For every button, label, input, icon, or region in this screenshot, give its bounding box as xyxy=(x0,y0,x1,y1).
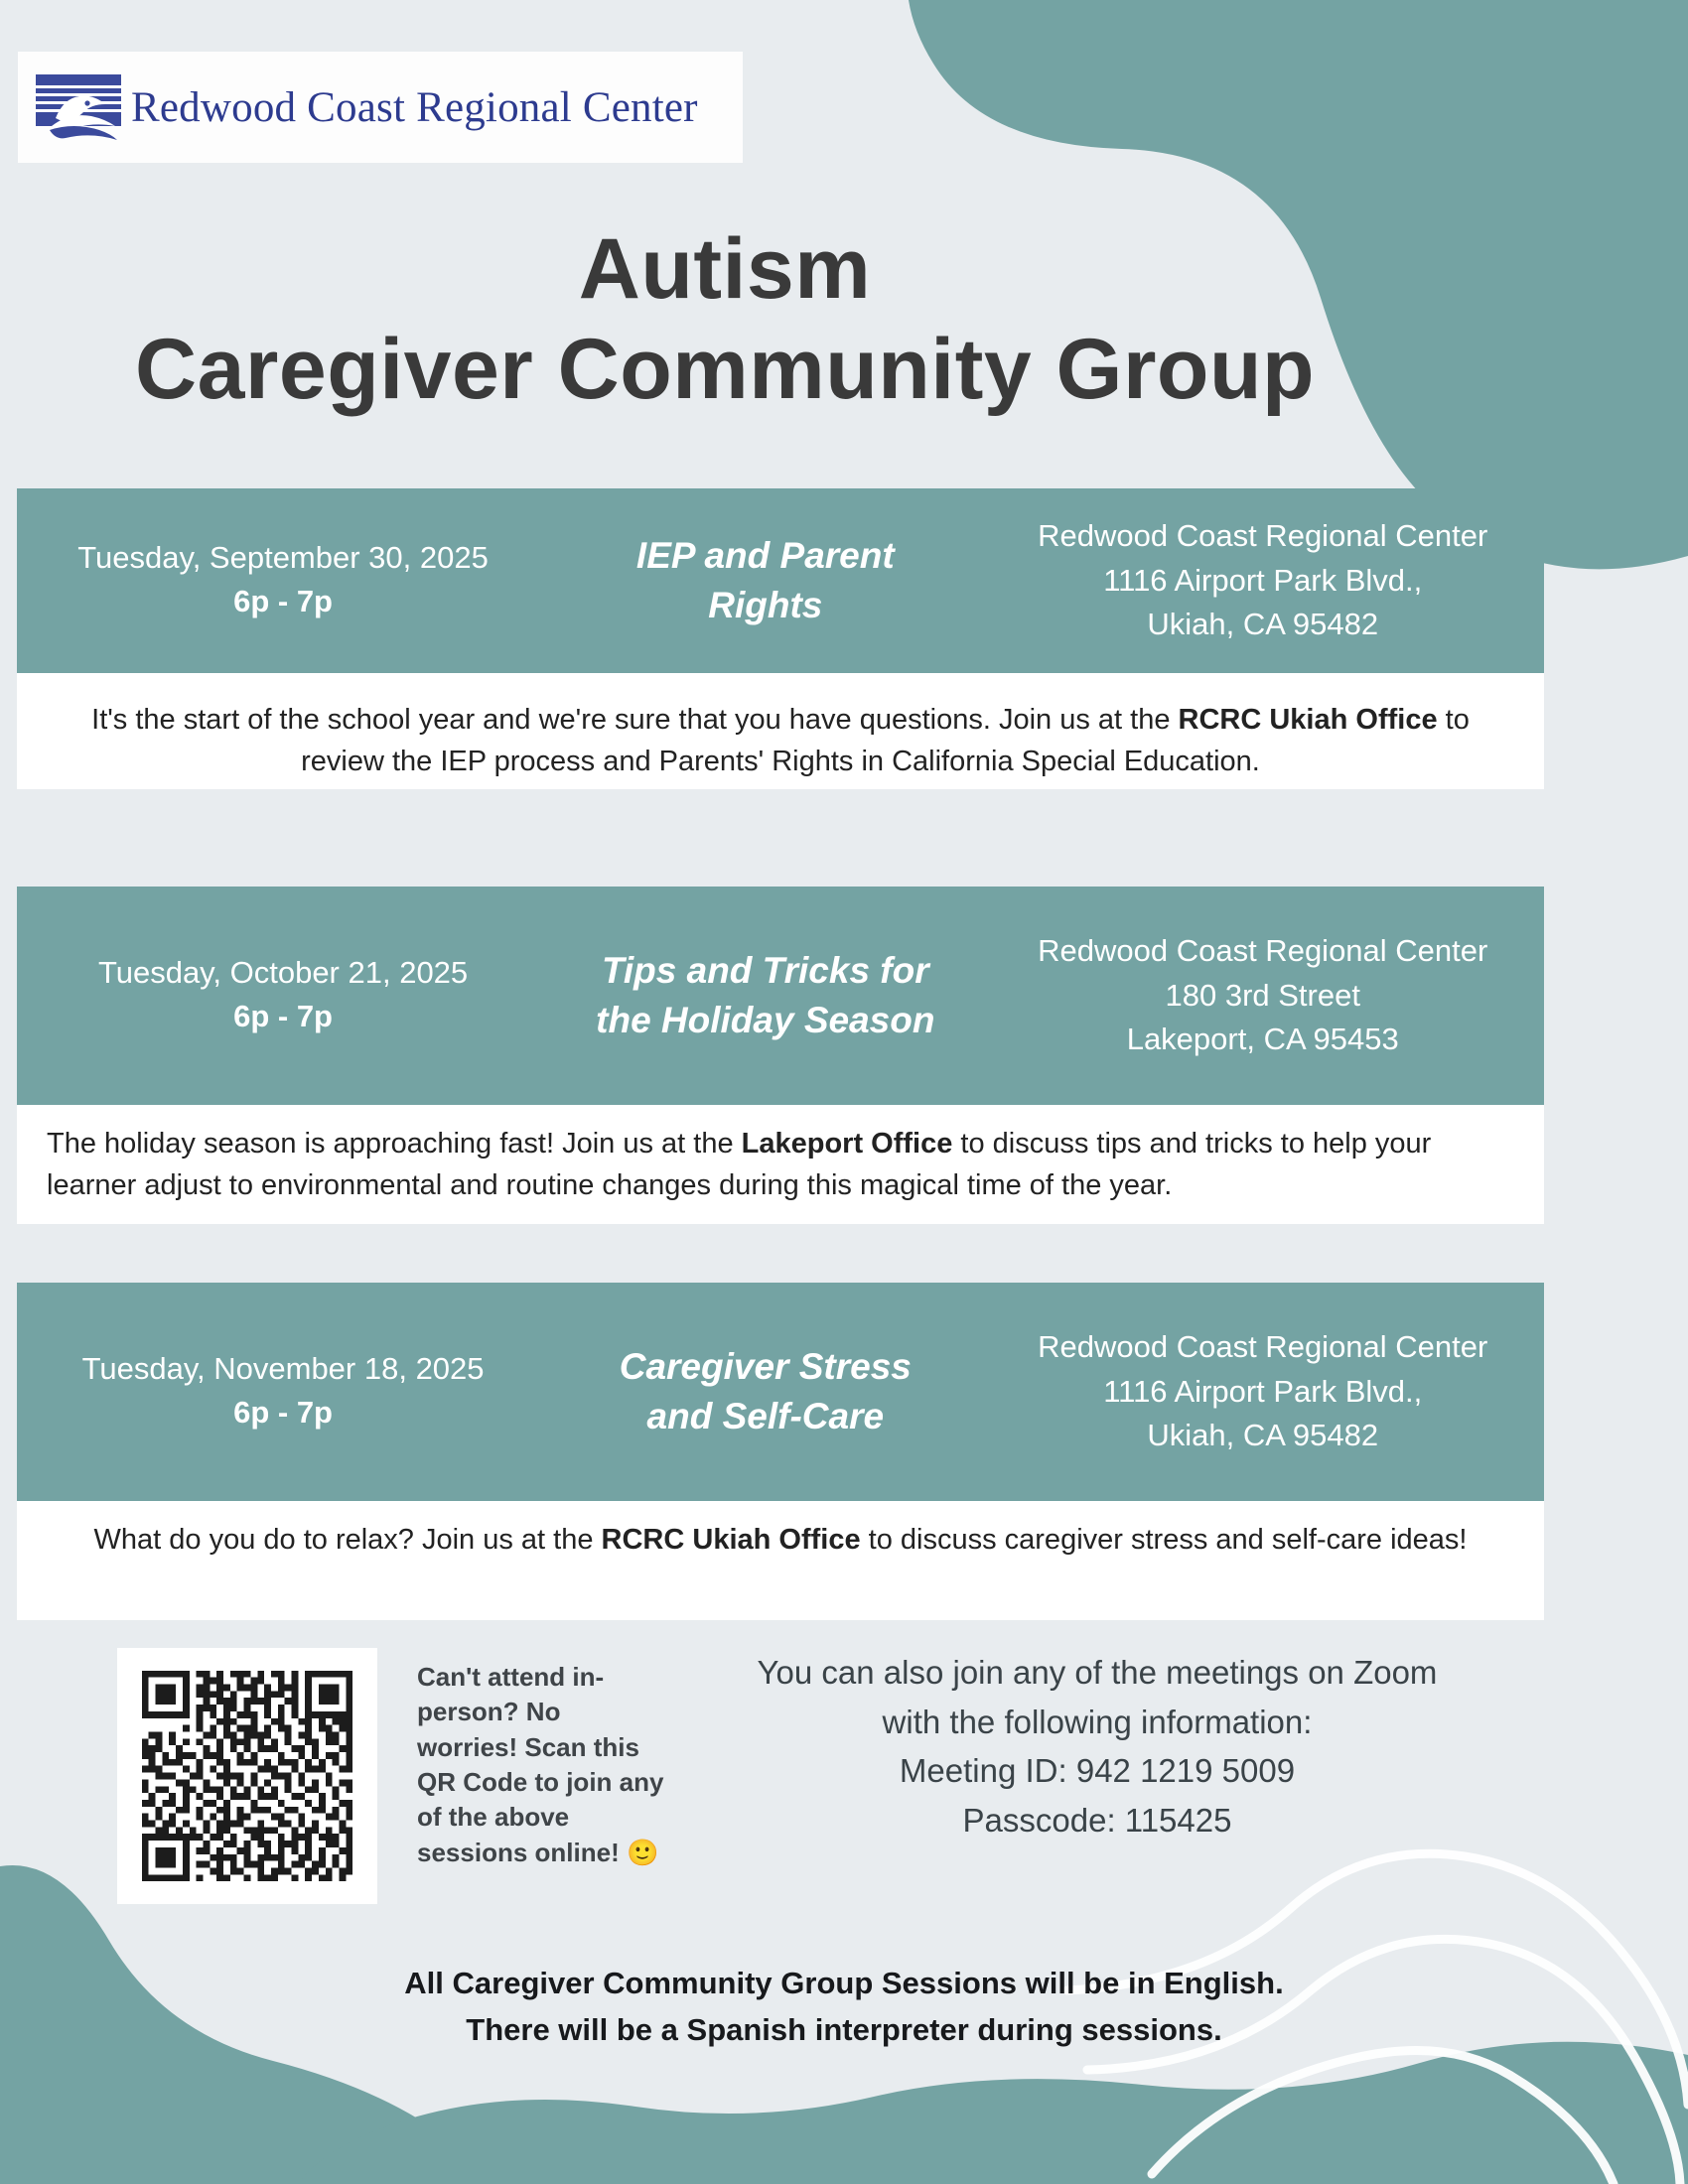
zoom-passcode-value: 115425 xyxy=(1125,1802,1232,1839)
session-location-line-1: Redwood Coast Regional Center xyxy=(992,1325,1534,1370)
session-location-column: Redwood Coast Regional Center 1116 Airpo… xyxy=(992,514,1534,648)
logo-text: Redwood Coast Regional Center xyxy=(131,83,698,132)
session-block-3: Tuesday, November 18, 2025 6p - 7p Careg… xyxy=(17,1283,1544,1620)
description-highlight: Lakeport Office xyxy=(742,1128,953,1160)
session-topic-line-1: Tips and Tricks for xyxy=(539,946,991,996)
session-date-column: Tuesday, November 18, 2025 6p - 7p xyxy=(27,1348,539,1435)
footer-line-1: All Caregiver Community Group Sessions w… xyxy=(0,1961,1688,2007)
qr-code-card[interactable] xyxy=(117,1648,377,1904)
footer-line-2: There will be a Spanish interpreter duri… xyxy=(0,2007,1688,2054)
session-time: 6p - 7p xyxy=(27,994,539,1040)
session-topic-line-1: IEP and Parent xyxy=(539,531,991,581)
session-location-line-2: 1116 Airport Park Blvd., xyxy=(992,1370,1534,1415)
session-block-1: Tuesday, September 30, 2025 6p - 7p IEP … xyxy=(17,488,1544,789)
session-location-column: Redwood Coast Regional Center 180 3rd St… xyxy=(992,929,1534,1063)
description-pre: What do you do to relax? Join us at the xyxy=(94,1524,602,1556)
zoom-passcode-row: Passcode: 115425 xyxy=(685,1796,1509,1845)
organization-logo: Redwood Coast Regional Center xyxy=(18,52,743,163)
session-banner: Tuesday, October 21, 2025 6p - 7p Tips a… xyxy=(17,887,1544,1105)
session-location-column: Redwood Coast Regional Center 1116 Airpo… xyxy=(992,1325,1534,1459)
session-location-line-3: Ukiah, CA 95482 xyxy=(992,1414,1534,1458)
session-topic-line-1: Caregiver Stress xyxy=(539,1342,991,1392)
description-pre: The holiday season is approaching fast! … xyxy=(47,1128,742,1160)
session-date-column: Tuesday, October 21, 2025 6p - 7p xyxy=(27,952,539,1039)
zoom-intro-line-2: with the following information: xyxy=(685,1698,1509,1747)
eagle-emblem-icon xyxy=(36,74,121,140)
session-location-line-1: Redwood Coast Regional Center xyxy=(992,514,1534,559)
session-topic-column: IEP and Parent Rights xyxy=(539,531,991,630)
session-description: What do you do to relax? Join us at the … xyxy=(17,1501,1544,1620)
session-description: It's the start of the school year and we… xyxy=(17,673,1544,789)
session-date-column: Tuesday, September 30, 2025 6p - 7p xyxy=(27,537,539,624)
title-line-2: Caregiver Community Group xyxy=(0,322,1450,417)
session-description: The holiday season is approaching fast! … xyxy=(17,1105,1544,1224)
session-location-line-1: Redwood Coast Regional Center xyxy=(992,929,1534,974)
session-banner: Tuesday, November 18, 2025 6p - 7p Careg… xyxy=(17,1283,1544,1501)
zoom-meeting-id-value: 942 1219 5009 xyxy=(1076,1752,1295,1789)
zoom-intro-line-1: You can also join any of the meetings on… xyxy=(685,1648,1509,1698)
qr-code-icon[interactable] xyxy=(133,1664,361,1888)
zoom-passcode-label: Passcode: xyxy=(963,1802,1116,1839)
session-date: Tuesday, October 21, 2025 xyxy=(27,952,539,994)
description-highlight: RCRC Ukiah Office xyxy=(1179,704,1438,736)
session-location-line-2: 1116 Airport Park Blvd., xyxy=(992,559,1534,604)
session-time: 6p - 7p xyxy=(27,579,539,625)
page-title: Autism Caregiver Community Group xyxy=(0,226,1450,417)
session-topic-line-2: Rights xyxy=(539,581,991,630)
session-topic-column: Caregiver Stress and Self-Care xyxy=(539,1342,991,1441)
flyer-page: Redwood Coast Regional Center Autism Car… xyxy=(0,0,1688,2184)
zoom-meeting-id-label: Meeting ID: xyxy=(900,1752,1067,1789)
session-topic-line-2: and Self-Care xyxy=(539,1392,991,1441)
description-highlight: RCRC Ukiah Office xyxy=(602,1524,861,1556)
session-time: 6p - 7p xyxy=(27,1390,539,1436)
qr-code-caption: Can't attend in-person? No worries! Scan… xyxy=(417,1660,665,1870)
description-pre: It's the start of the school year and we… xyxy=(91,704,1178,736)
session-location-line-3: Ukiah, CA 95482 xyxy=(992,603,1534,647)
description-post: to discuss caregiver stress and self-car… xyxy=(861,1524,1468,1556)
language-footer: All Caregiver Community Group Sessions w… xyxy=(0,1961,1688,2053)
session-date: Tuesday, November 18, 2025 xyxy=(27,1348,539,1390)
session-location-line-3: Lakeport, CA 95453 xyxy=(992,1018,1534,1062)
session-location-line-2: 180 3rd Street xyxy=(992,974,1534,1019)
session-date: Tuesday, September 30, 2025 xyxy=(27,537,539,579)
session-topic-column: Tips and Tricks for the Holiday Season xyxy=(539,946,991,1045)
zoom-meeting-info: You can also join any of the meetings on… xyxy=(685,1648,1509,1844)
session-topic-line-2: the Holiday Season xyxy=(539,996,991,1045)
zoom-meeting-id-row: Meeting ID: 942 1219 5009 xyxy=(685,1746,1509,1796)
title-line-1: Autism xyxy=(0,226,1450,312)
session-block-2: Tuesday, October 21, 2025 6p - 7p Tips a… xyxy=(17,887,1544,1224)
session-banner: Tuesday, September 30, 2025 6p - 7p IEP … xyxy=(17,488,1544,673)
